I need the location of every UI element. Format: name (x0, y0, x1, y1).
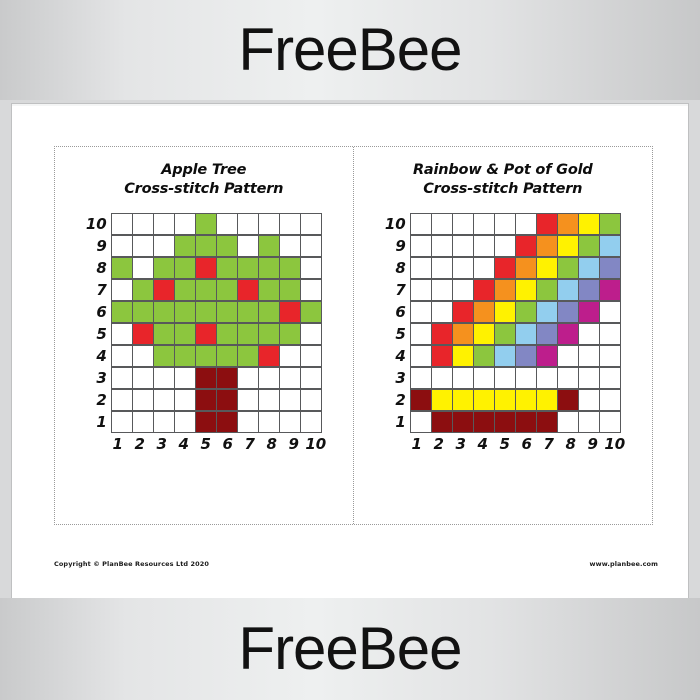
grid-row: 6 (380, 301, 626, 323)
grid-cell[interactable] (452, 345, 474, 367)
grid-cell[interactable] (452, 301, 474, 323)
y-axis-label: 9 (380, 235, 411, 257)
grid-row: 5 (380, 323, 626, 345)
panel-title-line2: Cross-stitch Pattern (55, 180, 353, 199)
grid-cell[interactable] (300, 213, 322, 235)
grid-cell[interactable] (279, 301, 301, 323)
grid-row: 2 (380, 389, 626, 411)
grid-cell[interactable] (258, 279, 280, 301)
grid-row-cells (112, 258, 322, 279)
grid-cell[interactable] (111, 279, 133, 301)
grid-cell[interactable] (237, 301, 259, 323)
grid-cell[interactable] (300, 301, 322, 323)
grid-cell[interactable] (494, 279, 516, 301)
grid-cell[interactable] (153, 257, 175, 279)
grid-cell[interactable] (132, 257, 154, 279)
grid-cell[interactable] (132, 323, 154, 345)
grid-row: 7 (81, 279, 327, 301)
grid-cell[interactable] (557, 323, 579, 345)
grid-row-cells (112, 280, 322, 301)
grid-cell[interactable] (536, 411, 558, 433)
grid-cell[interactable] (258, 323, 280, 345)
grid-cell[interactable] (473, 367, 495, 389)
grid-cell[interactable] (473, 323, 495, 345)
grid-wrap-apple-tree: 1098765432112345678910 (55, 213, 353, 453)
grid-cell[interactable] (557, 301, 579, 323)
grid-cell[interactable] (599, 345, 621, 367)
grid-cell[interactable] (494, 235, 516, 257)
grid-cell[interactable] (599, 323, 621, 345)
grid-row: 6 (81, 301, 327, 323)
grid-cell[interactable] (557, 411, 579, 433)
grid-row-cells (411, 214, 621, 235)
grid-cell[interactable] (410, 213, 432, 235)
grid-cell[interactable] (216, 323, 238, 345)
grid-cell[interactable] (473, 279, 495, 301)
grid-cell[interactable] (473, 301, 495, 323)
grid-cell[interactable] (431, 323, 453, 345)
grid-cell[interactable] (111, 389, 133, 411)
top-banner: FreeBee (0, 0, 700, 100)
grid-cell[interactable] (153, 367, 175, 389)
grid-cell[interactable] (195, 323, 217, 345)
grid-row: 2 (81, 389, 327, 411)
grid-cell[interactable] (132, 411, 154, 433)
grid-cell[interactable] (515, 257, 537, 279)
grid-cell[interactable] (174, 345, 196, 367)
grid-cell[interactable] (279, 389, 301, 411)
x-axis: 12345678910 (81, 435, 327, 453)
grid-row-cells (112, 236, 322, 257)
grid-cell[interactable] (431, 411, 453, 433)
grid-cell[interactable] (410, 411, 432, 433)
grid-cell[interactable] (132, 279, 154, 301)
grid-cell[interactable] (174, 235, 196, 257)
grid-row: 1 (81, 411, 327, 433)
y-axis-label: 5 (380, 323, 411, 345)
grid-row-cells (112, 302, 322, 323)
grid-cell[interactable] (195, 235, 217, 257)
grid-rainbow: 1098765432112345678910 (380, 213, 626, 453)
grid-cell[interactable] (216, 411, 238, 433)
grid-cell[interactable] (258, 213, 280, 235)
x-axis-label: 2 (129, 435, 151, 453)
grid-row: 10 (81, 213, 327, 235)
grid-cell[interactable] (431, 301, 453, 323)
y-axis-label: 7 (81, 279, 112, 301)
x-axis-spacer (380, 435, 406, 453)
grid-cell[interactable] (494, 411, 516, 433)
grid-cell[interactable] (279, 279, 301, 301)
grid-cell[interactable] (258, 235, 280, 257)
grid-row-cells (411, 368, 621, 389)
top-banner-title: FreeBee (238, 20, 461, 80)
grid-cell[interactable] (195, 279, 217, 301)
grid-cell[interactable] (258, 257, 280, 279)
grid-cell[interactable] (494, 301, 516, 323)
grid-cell[interactable] (132, 389, 154, 411)
grid-cell[interactable] (279, 345, 301, 367)
grid-cell[interactable] (578, 323, 600, 345)
grid-cell[interactable] (111, 345, 133, 367)
grid-cell[interactable] (578, 411, 600, 433)
grid-cell[interactable] (431, 279, 453, 301)
grid-cell[interactable] (153, 345, 175, 367)
y-axis-label: 2 (380, 389, 411, 411)
grid-cell[interactable] (216, 213, 238, 235)
grid-cell[interactable] (153, 323, 175, 345)
grid-row-cells (411, 280, 621, 301)
grid-row: 9 (380, 235, 626, 257)
x-axis-label: 6 (516, 435, 538, 453)
grid-cell[interactable] (216, 279, 238, 301)
grid-cell[interactable] (536, 367, 558, 389)
grid-row: 10 (380, 213, 626, 235)
grid-cell[interactable] (599, 411, 621, 433)
grid-cell[interactable] (111, 323, 133, 345)
x-axis-label: 7 (239, 435, 261, 453)
grid-cell[interactable] (300, 389, 322, 411)
grid-cell[interactable] (174, 323, 196, 345)
x-axis-label: 1 (107, 435, 129, 453)
grid-apple-tree: 1098765432112345678910 (81, 213, 327, 453)
grid-cell[interactable] (494, 323, 516, 345)
grid-cell[interactable] (153, 235, 175, 257)
grid-cell[interactable] (174, 411, 196, 433)
grid-cell[interactable] (578, 235, 600, 257)
y-axis-label: 5 (81, 323, 112, 345)
y-axis-label: 4 (81, 345, 112, 367)
y-axis-label: 7 (380, 279, 411, 301)
grid-cell[interactable] (536, 345, 558, 367)
grid-cell[interactable] (279, 213, 301, 235)
grid-cell[interactable] (174, 367, 196, 389)
panel-rainbow: Rainbow & Pot of Gold Cross-stitch Patte… (354, 147, 653, 524)
grid-cell[interactable] (195, 345, 217, 367)
grid-cell[interactable] (132, 367, 154, 389)
y-axis-label: 4 (380, 345, 411, 367)
grid-row: 3 (380, 367, 626, 389)
grid-cell[interactable] (410, 279, 432, 301)
y-axis-label: 10 (81, 213, 112, 235)
y-axis-label: 10 (380, 213, 411, 235)
grid-cell[interactable] (195, 213, 217, 235)
grid-cell[interactable] (216, 389, 238, 411)
worksheet-page: Apple Tree Cross-stitch Pattern 10987654… (12, 104, 688, 598)
grid-row: 5 (81, 323, 327, 345)
grid-cell[interactable] (578, 301, 600, 323)
grid-cell[interactable] (153, 301, 175, 323)
grid-cell[interactable] (237, 213, 259, 235)
grid-cell[interactable] (410, 345, 432, 367)
panel-title-line1: Rainbow & Pot of Gold (354, 161, 653, 180)
grid-cell[interactable] (452, 411, 474, 433)
grid-cell[interactable] (132, 345, 154, 367)
panel-title-line2: Cross-stitch Pattern (354, 180, 653, 199)
grid-row-cells (112, 324, 322, 345)
grid-cell[interactable] (494, 367, 516, 389)
grid-cell[interactable] (452, 235, 474, 257)
y-axis-label: 8 (380, 257, 411, 279)
grid-cell[interactable] (216, 367, 238, 389)
patterns-container: Apple Tree Cross-stitch Pattern 10987654… (54, 146, 653, 525)
x-axis-label: 3 (151, 435, 173, 453)
grid-cell[interactable] (174, 301, 196, 323)
grid-cell[interactable] (431, 257, 453, 279)
grid-cell[interactable] (279, 235, 301, 257)
panel-title-line1: Apple Tree (55, 161, 353, 180)
x-axis-label: 4 (173, 435, 195, 453)
grid-cell[interactable] (111, 367, 133, 389)
grid-cell[interactable] (431, 367, 453, 389)
grid-cell[interactable] (300, 279, 322, 301)
grid-cell[interactable] (452, 323, 474, 345)
y-axis-label: 9 (81, 235, 112, 257)
grid-cell[interactable] (174, 257, 196, 279)
grid-cell[interactable] (557, 279, 579, 301)
grid-cell[interactable] (557, 367, 579, 389)
grid-cell[interactable] (237, 323, 259, 345)
grid-row-cells (112, 368, 322, 389)
grid-cell[interactable] (515, 367, 537, 389)
x-axis-label: 4 (472, 435, 494, 453)
grid-cell[interactable] (410, 389, 432, 411)
grid-cell[interactable] (515, 411, 537, 433)
grid-cell[interactable] (515, 235, 537, 257)
grid-cell[interactable] (578, 213, 600, 235)
y-axis-label: 1 (81, 411, 112, 433)
grid-cell[interactable] (237, 367, 259, 389)
grid-cell[interactable] (300, 345, 322, 367)
grid-cell[interactable] (452, 367, 474, 389)
x-axis-label: 10 (305, 435, 327, 453)
grid-cell[interactable] (174, 279, 196, 301)
grid-cell[interactable] (410, 323, 432, 345)
grid-cell[interactable] (578, 257, 600, 279)
grid-cell[interactable] (132, 235, 154, 257)
grid-row-cells (112, 214, 322, 235)
grid-cell[interactable] (536, 389, 558, 411)
grid-cell[interactable] (557, 257, 579, 279)
panel-title-rainbow: Rainbow & Pot of Gold Cross-stitch Patte… (354, 161, 653, 199)
grid-cell[interactable] (473, 257, 495, 279)
grid-cell[interactable] (111, 235, 133, 257)
grid-row: 4 (81, 345, 327, 367)
grid-cell[interactable] (431, 213, 453, 235)
grid-cell[interactable] (132, 213, 154, 235)
grid-cell[interactable] (279, 411, 301, 433)
grid-cell[interactable] (216, 257, 238, 279)
grid-cell[interactable] (431, 345, 453, 367)
y-axis-label: 3 (380, 367, 411, 389)
copyright-text: Copyright © PlanBee Resources Ltd 2020 (54, 560, 209, 568)
grid-cell[interactable] (452, 257, 474, 279)
grid-cell[interactable] (515, 345, 537, 367)
grid-cell[interactable] (258, 389, 280, 411)
grid-cell[interactable] (515, 389, 537, 411)
grid-cell[interactable] (557, 235, 579, 257)
y-axis-label: 3 (81, 367, 112, 389)
grid-row-cells (411, 390, 621, 411)
grid-cell[interactable] (557, 345, 579, 367)
grid-cell[interactable] (536, 235, 558, 257)
grid-cell[interactable] (515, 279, 537, 301)
grid-cell[interactable] (237, 389, 259, 411)
grid-cell[interactable] (153, 411, 175, 433)
y-axis-label: 6 (380, 301, 411, 323)
grid-cell[interactable] (300, 257, 322, 279)
grid-row-cells (112, 412, 322, 433)
grid-cell[interactable] (473, 235, 495, 257)
grid-cell[interactable] (494, 213, 516, 235)
grid-row: 4 (380, 345, 626, 367)
grid-cell[interactable] (578, 367, 600, 389)
x-axis-label: 8 (261, 435, 283, 453)
x-axis-label: 7 (538, 435, 560, 453)
grid-cell[interactable] (452, 213, 474, 235)
x-axis-label: 9 (582, 435, 604, 453)
grid-cell[interactable] (473, 411, 495, 433)
grid-cell[interactable] (473, 345, 495, 367)
grid-cell[interactable] (599, 389, 621, 411)
x-axis: 12345678910 (380, 435, 626, 453)
grid-row-cells (411, 324, 621, 345)
grid-cell[interactable] (153, 213, 175, 235)
grid-cell[interactable] (111, 301, 133, 323)
grid-cell[interactable] (153, 389, 175, 411)
grid-cell[interactable] (410, 257, 432, 279)
grid-cell[interactable] (536, 279, 558, 301)
x-axis-label: 1 (406, 435, 428, 453)
y-axis-label: 8 (81, 257, 112, 279)
grid-row: 1 (380, 411, 626, 433)
grid-cell[interactable] (132, 301, 154, 323)
bottom-banner: FreeBee (0, 598, 700, 700)
x-axis-label: 9 (283, 435, 305, 453)
grid-cell[interactable] (515, 323, 537, 345)
grid-cell[interactable] (599, 235, 621, 257)
grid-row-cells (112, 390, 322, 411)
grid-cell[interactable] (195, 411, 217, 433)
grid-cell[interactable] (279, 367, 301, 389)
grid-cell[interactable] (258, 301, 280, 323)
grid-cell[interactable] (237, 411, 259, 433)
grid-cell[interactable] (431, 235, 453, 257)
grid-cell[interactable] (599, 279, 621, 301)
grid-cell[interactable] (578, 345, 600, 367)
grid-cell[interactable] (153, 279, 175, 301)
grid-row-cells (411, 412, 621, 433)
grid-cell[interactable] (216, 235, 238, 257)
website-url[interactable]: www.planbee.com (590, 560, 659, 568)
grid-cell[interactable] (515, 213, 537, 235)
grid-row: 8 (380, 257, 626, 279)
grid-wrap-rainbow: 1098765432112345678910 (354, 213, 653, 453)
grid-cell[interactable] (578, 389, 600, 411)
grid-cell[interactable] (174, 213, 196, 235)
grid-cell[interactable] (599, 301, 621, 323)
grid-cell[interactable] (557, 213, 579, 235)
grid-cell[interactable] (410, 301, 432, 323)
y-axis-label: 6 (81, 301, 112, 323)
grid-cell[interactable] (258, 367, 280, 389)
grid-cell[interactable] (599, 257, 621, 279)
grid-cell[interactable] (300, 235, 322, 257)
grid-cell[interactable] (111, 411, 133, 433)
grid-cell[interactable] (410, 235, 432, 257)
grid-cell[interactable] (111, 213, 133, 235)
grid-cell[interactable] (258, 411, 280, 433)
bottom-banner-title: FreeBee (238, 619, 461, 679)
x-axis-label: 10 (604, 435, 626, 453)
panel-title-apple-tree: Apple Tree Cross-stitch Pattern (55, 161, 353, 199)
grid-cell[interactable] (494, 345, 516, 367)
grid-cell[interactable] (237, 345, 259, 367)
grid-cell[interactable] (452, 389, 474, 411)
grid-cell[interactable] (536, 323, 558, 345)
grid-cell[interactable] (216, 301, 238, 323)
grid-cell[interactable] (536, 257, 558, 279)
grid-cell[interactable] (300, 411, 322, 433)
grid-cell[interactable] (195, 367, 217, 389)
grid-row-cells (112, 346, 322, 367)
grid-row: 8 (81, 257, 327, 279)
grid-cell[interactable] (237, 279, 259, 301)
grid-cell[interactable] (279, 323, 301, 345)
grid-cell[interactable] (515, 301, 537, 323)
grid-cell[interactable] (557, 389, 579, 411)
grid-cell[interactable] (279, 257, 301, 279)
grid-row: 3 (81, 367, 327, 389)
grid-cell[interactable] (195, 389, 217, 411)
grid-cell[interactable] (111, 257, 133, 279)
grid-cell[interactable] (300, 367, 322, 389)
x-axis-label: 5 (494, 435, 516, 453)
grid-cell[interactable] (195, 301, 217, 323)
grid-cell[interactable] (494, 389, 516, 411)
x-axis-label: 2 (428, 435, 450, 453)
screenshot-root: FreeBee Apple Tree Cross-stitch Pattern … (0, 0, 700, 700)
grid-cell[interactable] (452, 279, 474, 301)
grid-cell[interactable] (599, 213, 621, 235)
grid-cell[interactable] (216, 345, 238, 367)
grid-cell[interactable] (473, 389, 495, 411)
grid-cell[interactable] (578, 279, 600, 301)
grid-cell[interactable] (195, 257, 217, 279)
grid-cell[interactable] (599, 367, 621, 389)
grid-cell[interactable] (494, 257, 516, 279)
grid-cell[interactable] (473, 213, 495, 235)
grid-cell[interactable] (536, 301, 558, 323)
grid-cell[interactable] (258, 345, 280, 367)
x-axis-label: 5 (195, 435, 217, 453)
grid-cell[interactable] (237, 235, 259, 257)
grid-row-cells (411, 302, 621, 323)
grid-cell[interactable] (536, 213, 558, 235)
sheet-footer: Copyright © PlanBee Resources Ltd 2020 w… (54, 560, 658, 568)
y-axis-label: 2 (81, 389, 112, 411)
grid-row: 9 (81, 235, 327, 257)
grid-cell[interactable] (431, 389, 453, 411)
grid-row-cells (411, 258, 621, 279)
y-axis-label: 1 (380, 411, 411, 433)
grid-row-cells (411, 346, 621, 367)
grid-cell[interactable] (300, 323, 322, 345)
grid-cell[interactable] (174, 389, 196, 411)
panel-apple-tree: Apple Tree Cross-stitch Pattern 10987654… (55, 147, 354, 524)
grid-cell[interactable] (410, 367, 432, 389)
grid-cell[interactable] (237, 257, 259, 279)
